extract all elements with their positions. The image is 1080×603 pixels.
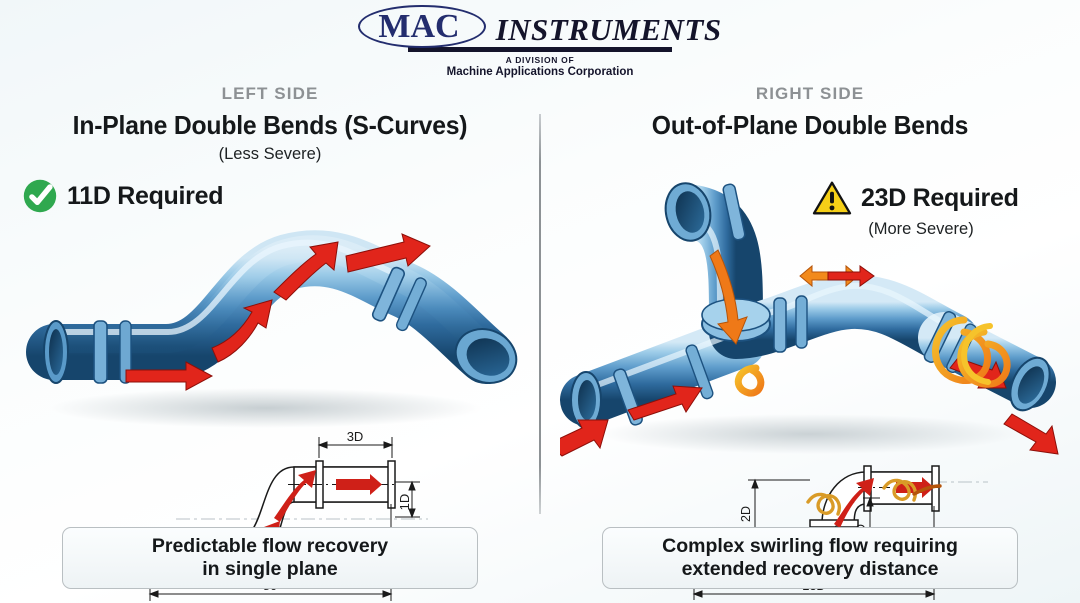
- left-pipe-illustration: [16, 180, 526, 435]
- left-pipe-shadow: [51, 388, 481, 428]
- right-panel: RIGHT SIDE Out-of-Plane Double Bends (Mo…: [540, 84, 1080, 603]
- right-requirement-badge: 23D Required: [812, 180, 1019, 216]
- logo-division-of-text: A DIVISION OF: [506, 55, 575, 65]
- right-caption-text: Complex swirling flow requiring extended…: [662, 535, 958, 582]
- left-caption-text: Predictable flow recovery in single plan…: [152, 535, 388, 582]
- left-panel-subtitle: (Less Severe): [0, 145, 540, 164]
- left-panel-title: In-Plane Double Bends (S-Curves): [14, 110, 527, 141]
- logo-mac-text: MAC: [378, 8, 459, 45]
- logo-mac-ellipse: MAC: [358, 8, 485, 46]
- mac-instruments-logo: MAC INSTRUMENTS A DIVISION OF Machine Ap…: [0, 8, 1080, 78]
- right-side-label: RIGHT SIDE: [540, 84, 1080, 104]
- right-dim-2d-upper-label: 2D: [739, 506, 753, 522]
- left-requirement-badge: 11D Required: [22, 178, 223, 214]
- left-side-label: LEFT SIDE: [0, 84, 540, 104]
- yellow-warning-triangle-icon: [812, 180, 852, 216]
- logo-wordmark-row: MAC INSTRUMENTS: [358, 8, 721, 46]
- left-dim-1d-outlet-label: 1D: [397, 494, 412, 511]
- left-dim-3d-label: 3D: [347, 429, 364, 444]
- left-caption-box: Predictable flow recovery in single plan…: [62, 527, 478, 589]
- logo-instruments-text: INSTRUMENTS: [496, 14, 722, 45]
- left-requirement-text: 11D Required: [67, 182, 223, 211]
- right-caption-box: Complex swirling flow requiring extended…: [602, 527, 1018, 589]
- right-panel-title: Out-of-Plane Double Bends: [554, 110, 1067, 141]
- right-pipe-illustration: [560, 172, 1060, 472]
- right-requirement-text: 23D Required: [861, 184, 1019, 213]
- left-panel: LEFT SIDE In-Plane Double Bends (S-Curve…: [0, 84, 540, 603]
- logo-company-name: Machine Applications Corporation: [447, 66, 634, 78]
- infographic-canvas: MAC INSTRUMENTS A DIVISION OF Machine Ap…: [0, 0, 1080, 603]
- green-check-icon: [22, 178, 58, 214]
- logo-underline-bar: [408, 47, 672, 52]
